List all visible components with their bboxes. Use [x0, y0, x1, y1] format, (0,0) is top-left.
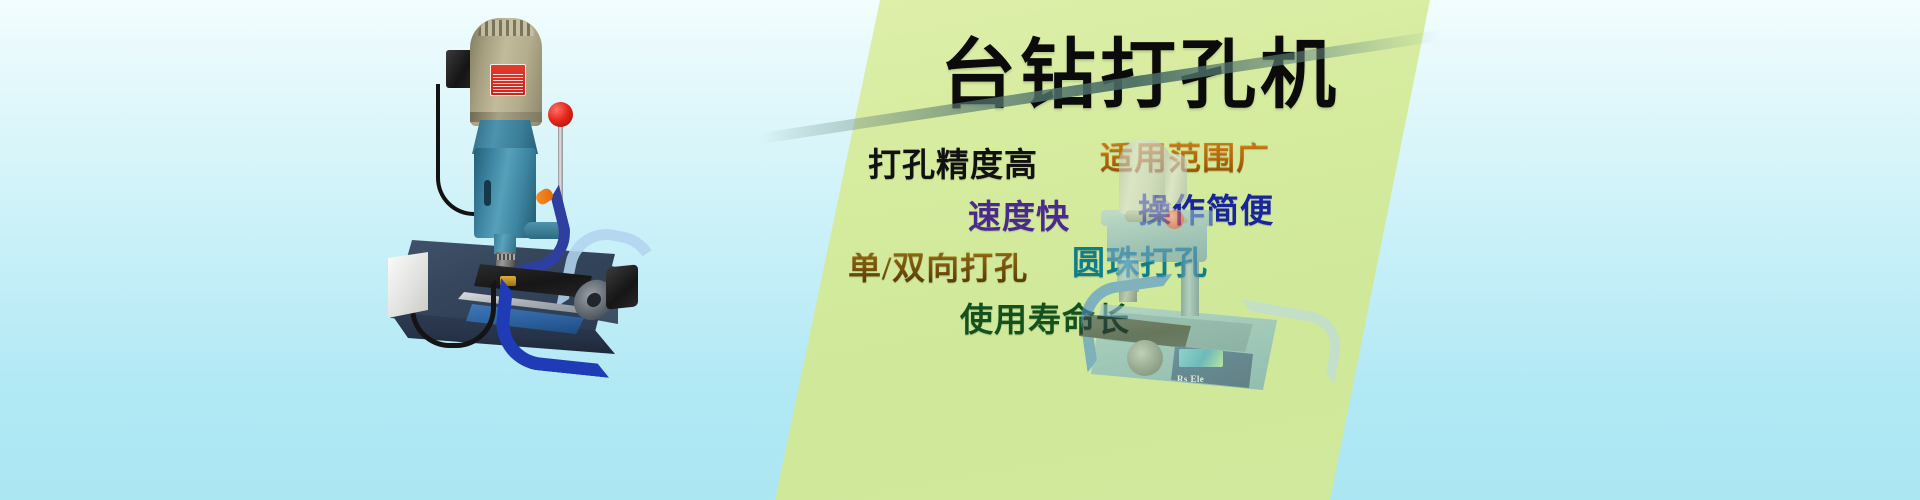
feature-single-double-drilling: 单/双向打孔 [848, 253, 1028, 286]
right-machine-capacitor [1165, 154, 1187, 204]
left-machine-photo [378, 8, 648, 368]
feed-lever-knob [548, 102, 573, 127]
right-machine-pulley [1125, 210, 1169, 222]
product-banner: 台钻打孔机 打孔精度高 适用范围广 速度快 操作简便 单/双向打孔 圆珠打孔 使… [0, 0, 1920, 500]
control-switch-box [388, 252, 428, 318]
power-cable [436, 84, 474, 216]
right-machine-head [1107, 216, 1207, 262]
motor-nameplate-label [490, 64, 526, 96]
blue-coolant-hose-lower [492, 278, 619, 378]
right-machine-lever-knob [1165, 210, 1184, 229]
product-box-artwork [1179, 349, 1223, 367]
right-machine-handwheel [1127, 340, 1163, 376]
feature-precision: 打孔精度高 [868, 150, 1038, 183]
right-machine-photo: Rs Ele [1085, 132, 1335, 400]
motor-vent-grille [478, 20, 534, 36]
feature-fast-speed: 速度快 [968, 202, 1070, 235]
